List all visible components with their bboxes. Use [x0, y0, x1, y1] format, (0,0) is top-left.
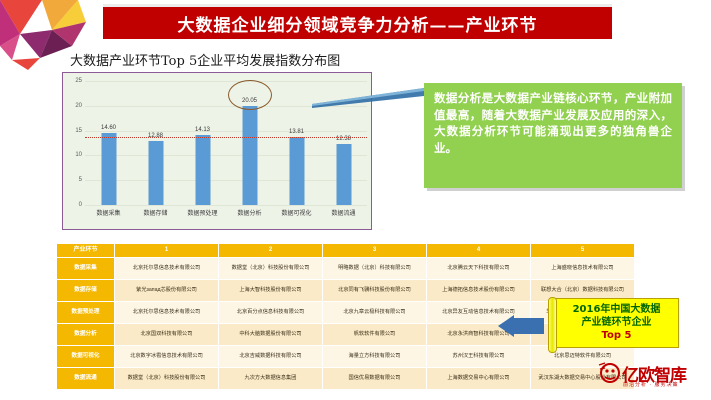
table-row-header-segment: 数据预处理 — [57, 302, 115, 324]
slide-title-banner: 大数据企业细分领域竞争力分析——产业环节 — [103, 4, 612, 39]
y-axis-tick: 5 — [79, 177, 82, 183]
table-col-header-rank: 5 — [531, 244, 635, 258]
table-cell-company: 海量立方科技有限公司 — [323, 346, 427, 368]
yellow-callout-box: 2016年中国大数据 产业链环节企业 Top 5 — [546, 298, 679, 352]
table-cell-company: 数据堂（北京）科技股份有限公司 — [115, 368, 219, 390]
table-row: 数据流通数据堂（北京）科技股份有限公司九次方大数据信息集团国信优易数据有限公司上… — [57, 368, 635, 390]
table-cell-company: 上海数据交易中心有限公司 — [427, 368, 531, 390]
x-axis-category-label: 数据存储 — [143, 208, 167, 217]
chart-bar — [242, 106, 257, 205]
highlight-ellipse — [228, 80, 272, 110]
table-cell-company: 北京托尔思信息技术有限公司 — [115, 258, 219, 280]
chart-bar-group: 14.13数据预处理 — [179, 81, 226, 205]
chart-gridline — [85, 205, 367, 206]
chart-bar — [336, 144, 351, 205]
green-callout-box: 数据分析是大数据产业链核心环节，产业附加值最高，随着大数据产业发展及应用的深入，… — [424, 83, 682, 188]
chart-plot-area: 051015202514.60数据采集12.88数据存储14.13数据预处理20… — [85, 81, 367, 205]
table-cell-company: 北京吉威数据科技有限公司 — [219, 346, 323, 368]
table-cell-company: 数据堂（北京）科技股份有限公司 — [219, 258, 323, 280]
table-col-header-rank: 4 — [427, 244, 531, 258]
chart-bar — [195, 135, 210, 205]
y-axis-tick: 15 — [75, 128, 82, 134]
yellow-callout-line2: 产业链环节企业 — [582, 316, 652, 329]
bar-chart: 051015202514.60数据采集12.88数据存储14.13数据预处理20… — [62, 72, 372, 230]
table-cell-company: 北京九章云极科技有限公司 — [323, 302, 427, 324]
bar-value-label: 13.81 — [289, 129, 304, 135]
chart-heading: 大数据产业环节Top 5企业平均发展指数分布图 — [70, 50, 340, 69]
blue-arrow-icon — [498, 315, 544, 337]
table-col-header-rank: 2 — [219, 244, 323, 258]
table-col-header-segment: 产业环节 — [57, 244, 115, 258]
y-axis-tick: 20 — [75, 103, 82, 109]
table-cell-company: 紫光запад芯股份有限公司 — [115, 280, 219, 302]
table-head: 产业环节12345 — [57, 244, 635, 258]
table-cell-company: 明略数据（北京）科技有限公司 — [323, 258, 427, 280]
chart-bar-group: 12.38数据流通 — [320, 81, 367, 205]
y-axis-tick: 10 — [75, 152, 82, 158]
table-cell-company: 上海大智科技股份有限公司 — [219, 280, 323, 302]
yellow-callout-line3: Top 5 — [602, 329, 632, 343]
y-axis-tick: 0 — [79, 202, 82, 208]
x-axis-category-label: 数据分析 — [237, 208, 261, 217]
table-cell-company: 北京托尔思信息技术有限公司 — [115, 302, 219, 324]
table-row-header-segment: 数据流通 — [57, 368, 115, 390]
bar-value-label: 14.13 — [195, 127, 210, 133]
table-row-header-segment: 数据存储 — [57, 280, 115, 302]
page-title: 大数据企业细分领域竞争力分析——产业环节 — [178, 11, 538, 36]
watermark-subtitle: 前沿分析 · 服务决策 — [623, 381, 678, 388]
chart-bar-group: 13.81数据可视化 — [273, 81, 320, 205]
table-cell-company: 北京腾云天下科技有限公司 — [427, 258, 531, 280]
yellow-callout-line1: 2016年中国大数据 — [573, 303, 661, 316]
table-col-header-rank: 1 — [115, 244, 219, 258]
table-cell-company: 北京数字冰雹信息技术有限公司 — [115, 346, 219, 368]
table-header-row: 产业环节12345 — [57, 244, 635, 258]
scroll-roll-decoration — [548, 297, 557, 353]
table-cell-company: 上海德拓信息技术股份有限公司 — [427, 280, 531, 302]
table-cell-company: 九次方大数据信息集团 — [219, 368, 323, 390]
table-row-header-segment: 数据采集 — [57, 258, 115, 280]
table-col-header-rank: 3 — [323, 244, 427, 258]
table-cell-company: 苏州汉王科技有限公司 — [427, 346, 531, 368]
table-cell-company: 中科大脑数据股份有限公司 — [219, 324, 323, 346]
table-cell-company: 国信优易数据有限公司 — [323, 368, 427, 390]
bar-value-label: 14.60 — [101, 125, 116, 131]
x-axis-category-label: 数据采集 — [96, 208, 120, 217]
table-cell-company: 北京同有飞骥科技股份有限公司 — [323, 280, 427, 302]
chart-bar — [101, 133, 116, 205]
chart-bar-group: 12.88数据存储 — [132, 81, 179, 205]
x-axis-category-label: 数据预处理 — [187, 208, 217, 217]
x-axis-category-label: 数据流通 — [331, 208, 355, 217]
yellow-callout-sheet: 2016年中国大数据 产业链环节企业 Top 5 — [554, 298, 679, 348]
x-axis-category-label: 数据可视化 — [281, 208, 311, 217]
table-row-header-segment: 数据可视化 — [57, 346, 115, 368]
table-cell-company: 北京百分点信息科技有限公司 — [219, 302, 323, 324]
table-row: 数据采集北京托尔思信息技术有限公司数据堂（北京）科技股份有限公司明略数据（北京）… — [57, 258, 635, 280]
table-row-header-segment: 数据分析 — [57, 324, 115, 346]
y-axis-tick: 25 — [75, 78, 82, 84]
watermark-logo: 亿欧智库 前沿分析 · 服务决策 — [596, 360, 704, 394]
average-reference-line — [85, 137, 367, 138]
table-cell-company: 上海盛晓信息技术有限公司 — [531, 258, 635, 280]
chart-bar-group: 14.60数据采集 — [85, 81, 132, 205]
chart-bar — [289, 137, 304, 205]
table-cell-company: 北京国双科技有限公司 — [115, 324, 219, 346]
table-cell-company: 帆软软件有限公司 — [323, 324, 427, 346]
chart-bar — [148, 141, 163, 205]
